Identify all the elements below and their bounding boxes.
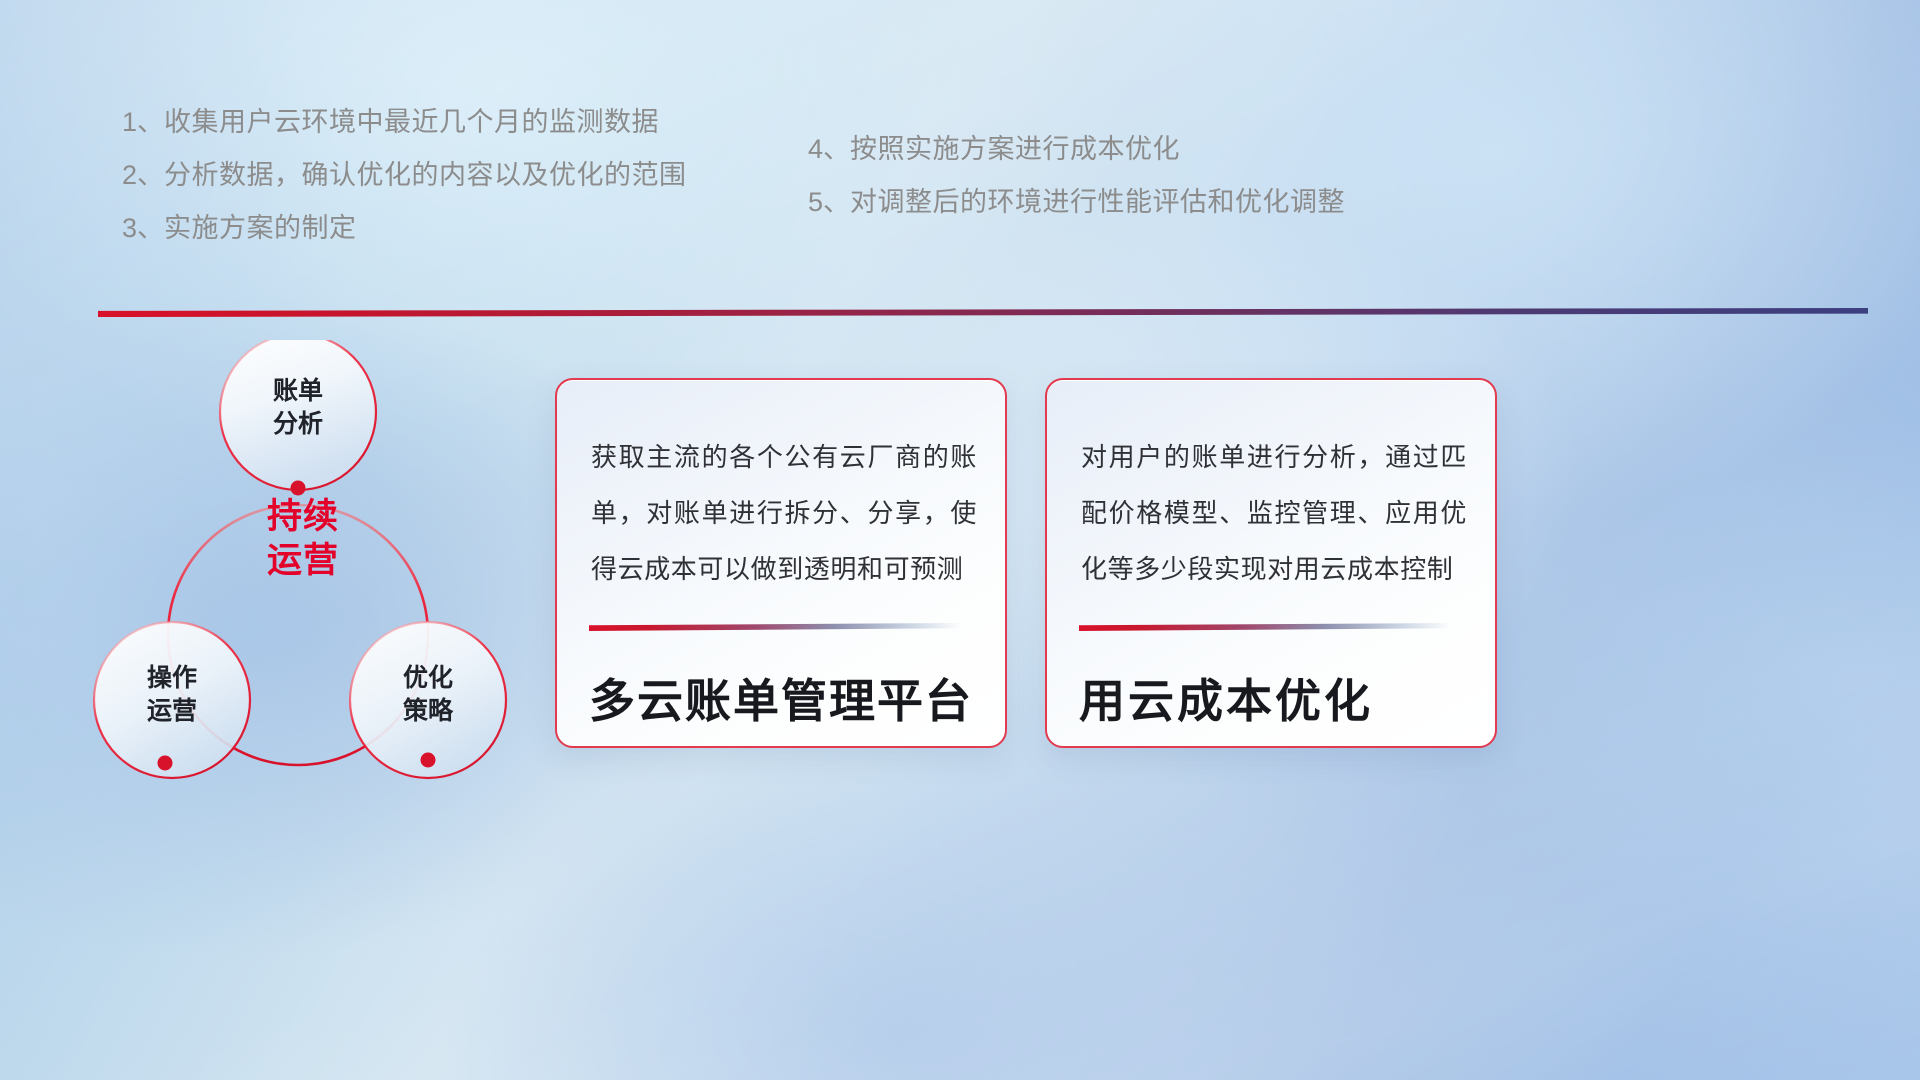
card-title: 用云成本优化 <box>1079 665 1471 731</box>
venn-node-dot-top <box>291 481 306 496</box>
process-step-list: 1、收集用户云环境中最近几个月的监测数据 2、分析数据，确认优化的内容以及优化的… <box>0 0 1920 250</box>
process-step-item: 3、实施方案的制定 <box>122 206 357 245</box>
venn-node-dot-right <box>421 753 436 768</box>
card-title: 多云账单管理平台 <box>589 665 981 731</box>
process-step-item: 2、分析数据，确认优化的内容以及优化的范围 <box>122 153 687 192</box>
venn-diagram: 账单 分析 操作 运营 优化 策略 持续 运营 <box>80 340 550 900</box>
process-step-item: 4、按照实施方案进行成本优化 <box>808 127 1180 166</box>
process-step-item: 5、对调整后的环境进行性能评估和优化调整 <box>808 180 1345 219</box>
step-text: 分析数据，确认优化的内容以及优化的范围 <box>164 160 687 190</box>
section-divider <box>98 308 1868 317</box>
step-number: 1、 <box>122 107 164 137</box>
feature-card-cost-optimization[interactable]: 对用户的账单进行分析，通过匹配价格模型、监控管理、应用优化等多少段实现对用云成本… <box>1045 378 1497 748</box>
step-number: 5、 <box>808 187 850 217</box>
step-number: 2、 <box>122 160 164 190</box>
venn-label-optimization-strategy: 优化 策略 <box>368 662 488 727</box>
step-number: 3、 <box>122 213 164 243</box>
venn-label-billing-analysis: 账单 分析 <box>238 375 358 440</box>
step-text: 按照实施方案进行成本优化 <box>850 134 1180 164</box>
card-body-text: 获取主流的各个公有云厂商的账单，对账单进行拆分、分享，使得云成本可以做到透明和可… <box>591 430 977 598</box>
divider-gradient-bar <box>98 308 1868 317</box>
step-text: 实施方案的制定 <box>164 213 357 243</box>
step-text: 收集用户云环境中最近几个月的监测数据 <box>164 107 659 137</box>
step-text: 对调整后的环境进行性能评估和优化调整 <box>850 187 1345 217</box>
card-accent-rule <box>589 623 961 631</box>
process-step-item: 1、收集用户云环境中最近几个月的监测数据 <box>122 100 659 139</box>
feature-card-multicloud-billing[interactable]: 获取主流的各个公有云厂商的账单，对账单进行拆分、分享，使得云成本可以做到透明和可… <box>555 378 1007 748</box>
venn-label-operations: 操作 运营 <box>112 662 232 727</box>
venn-node-dot-left <box>158 756 173 771</box>
card-accent-rule <box>1079 623 1451 631</box>
venn-label-continuous-operation: 持续 运营 <box>228 495 378 583</box>
card-body-text: 对用户的账单进行分析，通过匹配价格模型、监控管理、应用优化等多少段实现对用云成本… <box>1081 430 1467 598</box>
step-number: 4、 <box>808 134 850 164</box>
